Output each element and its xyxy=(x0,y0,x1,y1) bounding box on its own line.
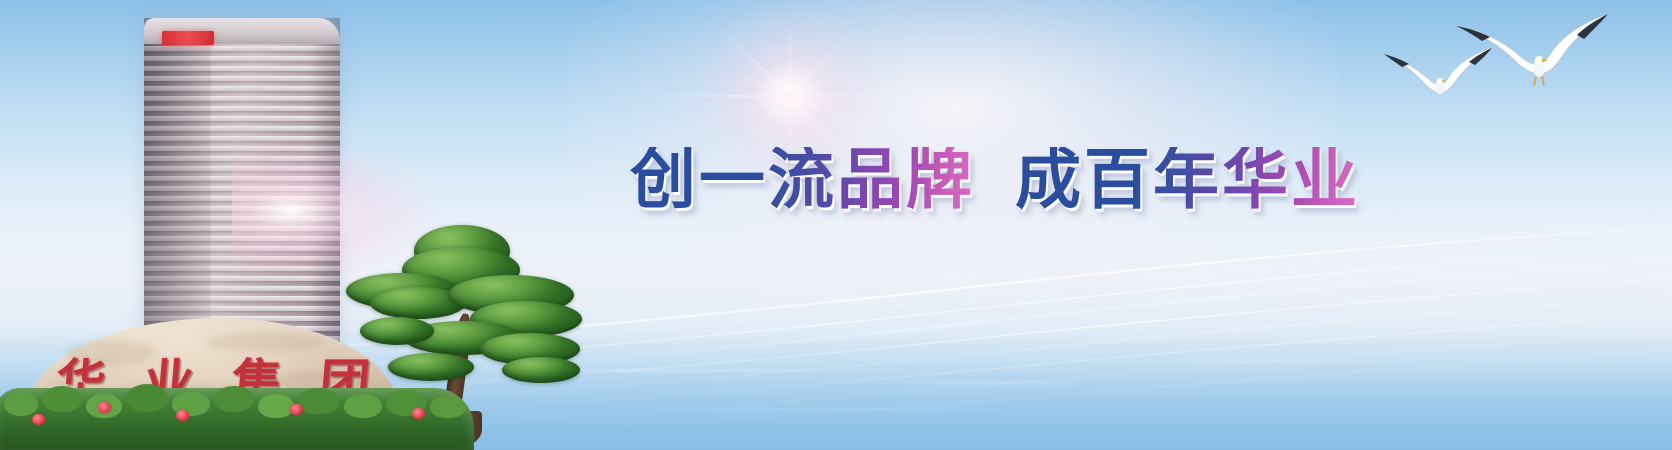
slogan-phrase-one: 创一流品牌 xyxy=(630,147,975,213)
hedge-flower xyxy=(32,414,45,425)
banner-slogan: 创一流品牌 成百年华业 xyxy=(630,140,1360,220)
sea-reflection-streak xyxy=(660,408,1000,410)
hero-banner: 华 业 集 团 创一流品牌 成百年华业 xyxy=(0,0,1672,450)
hedge-leaf xyxy=(126,384,168,412)
office-tower xyxy=(128,18,360,348)
sea-reflection-streak xyxy=(1180,360,1400,362)
hedge-leaf xyxy=(430,396,466,418)
tower-right-edge xyxy=(309,18,340,348)
pine-foliage-pad xyxy=(360,317,434,345)
hedge-flower xyxy=(98,402,111,413)
tower-facade xyxy=(144,18,340,348)
hedge-leaf xyxy=(214,386,254,412)
hedge-flower xyxy=(176,410,189,421)
hedge-leaf xyxy=(344,394,382,418)
green-hedge-row xyxy=(0,388,474,450)
hedge-leaf xyxy=(42,386,82,412)
sea-reflection-streak xyxy=(900,381,1080,384)
hedge-leaf xyxy=(298,388,340,414)
hedge-flower xyxy=(412,408,425,419)
hedge-leaf xyxy=(4,392,38,416)
building-logo-sign xyxy=(162,31,214,45)
hedge-leaf xyxy=(258,394,294,418)
sea-reflection-streak xyxy=(560,369,820,372)
slogan-phrase-two: 成百年华业 xyxy=(1015,147,1360,213)
pine-foliage-pad xyxy=(388,353,474,381)
pine-foliage-pad xyxy=(502,357,580,383)
hedge-flower xyxy=(290,404,303,415)
tower-shadow-face xyxy=(144,18,211,348)
